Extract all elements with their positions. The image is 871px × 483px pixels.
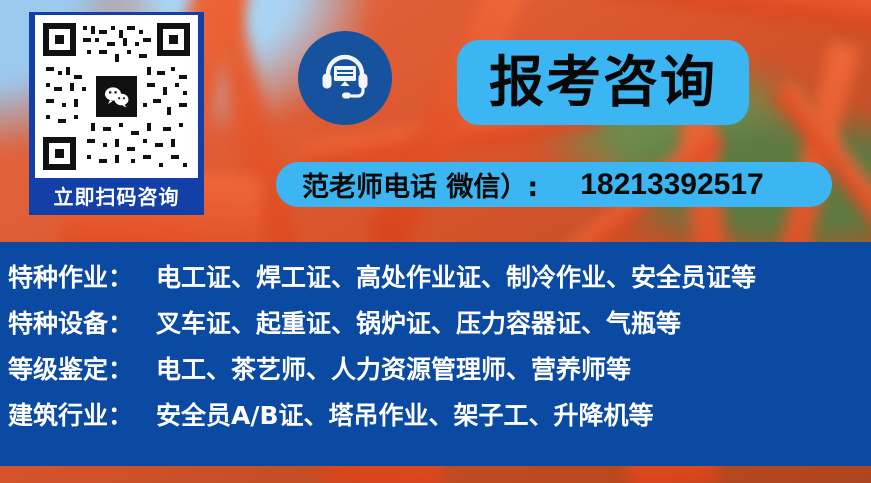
qr-finder-icon — [157, 23, 190, 56]
qr-code-image[interactable] — [35, 15, 198, 178]
category-label: 特种作业： — [8, 258, 156, 294]
qr-code-card[interactable]: 立即扫码咨询 — [29, 12, 204, 215]
wechat-icon — [96, 76, 137, 117]
header-area: 立即扫码咨询 报考咨询 — [0, 0, 871, 242]
category-row-special-operations: 特种作业： 电工证、焊工证、高处作业证、制冷作业、安全员证等 — [0, 258, 871, 304]
contact-number: 18213392517 — [580, 168, 764, 202]
headset-icon — [316, 47, 374, 110]
category-row-grade-appraisal: 等级鉴定： 电工、茶艺师、人力资源管理师、营养师等 — [0, 350, 871, 396]
page-title: 报考咨询 — [489, 55, 717, 110]
promo-poster: 立即扫码咨询 报考咨询 — [0, 0, 871, 483]
qr-caption: 立即扫码咨询 — [32, 178, 201, 212]
category-label: 特种设备： — [8, 304, 156, 340]
category-row-special-equipment: 特种设备： 叉车证、起重证、锅炉证、压力容器证、气瓶等 — [0, 304, 871, 350]
category-label: 等级鉴定： — [8, 350, 156, 386]
category-value: 叉车证、起重证、锅炉证、压力容器证、气瓶等 — [156, 304, 681, 340]
title-pill[interactable]: 报考咨询 — [457, 40, 749, 125]
customer-service-badge[interactable] — [298, 31, 392, 125]
category-value: 电工证、焊工证、高处作业证、制冷作业、安全员证等 — [156, 258, 756, 294]
category-list: 特种作业： 电工证、焊工证、高处作业证、制冷作业、安全员证等 特种设备： 叉车证… — [0, 242, 871, 466]
category-row-construction-industry: 建筑行业： 安全员A/B证、塔吊作业、架子工、升降机等 — [0, 396, 871, 442]
contact-pill[interactable]: 范老师电话 微信）: 18213392517 — [276, 162, 832, 207]
contact-label: 范老师电话 微信）: — [302, 165, 538, 204]
category-value: 电工、茶艺师、人力资源管理师、营养师等 — [156, 350, 631, 386]
qr-modules — [43, 23, 190, 170]
qr-finder-icon — [43, 137, 76, 170]
category-label: 建筑行业： — [8, 396, 156, 432]
qr-finder-icon — [43, 23, 76, 56]
category-value: 安全员A/B证、塔吊作业、架子工、升降机等 — [156, 396, 654, 432]
